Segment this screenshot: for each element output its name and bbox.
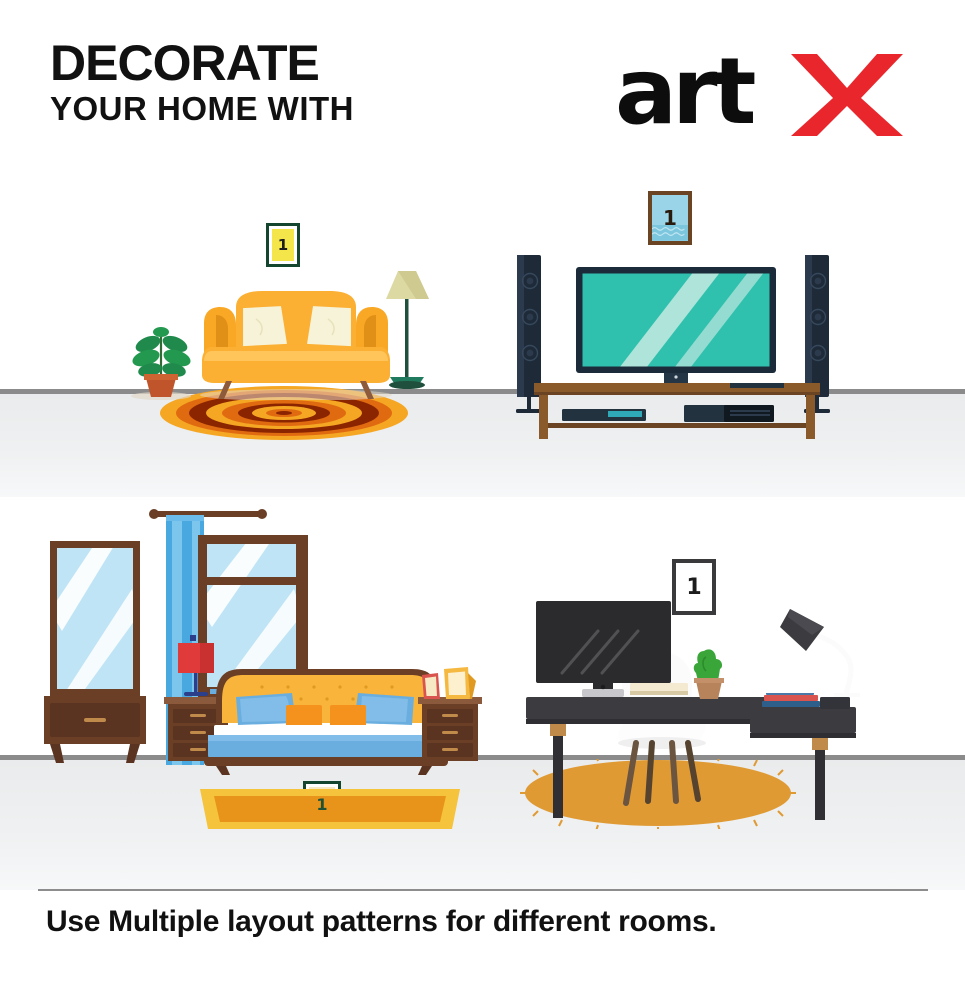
header: DECORATE YOUR HOME WITH art (0, 0, 965, 175)
logo-x-mark (787, 48, 907, 140)
scene-home-office[interactable]: 1 (482, 497, 965, 890)
art-canvas: 1 (272, 229, 294, 261)
desk-lamp (772, 605, 876, 701)
area-rug (190, 785, 470, 833)
television[interactable] (576, 267, 776, 391)
caption-divider (38, 889, 928, 891)
scene-bedroom[interactable]: 1 (0, 497, 482, 890)
nightstand-right (418, 697, 482, 765)
cactus-plant (686, 639, 730, 701)
photo-frames (420, 665, 480, 701)
art-canvas: 1 (652, 195, 688, 241)
book-blue (762, 701, 820, 707)
headline-line-2: YOUR HOME WITH (50, 88, 354, 129)
scene-living-room[interactable]: 1 (0, 175, 482, 497)
potted-plant (128, 300, 194, 400)
art-mat: 1 (269, 226, 297, 264)
caption-text: Use Multiple layout patterns for differe… (46, 905, 926, 939)
page-title: DECORATE YOUR HOME WITH (50, 38, 354, 129)
framed-art[interactable]: 1 (266, 223, 300, 267)
tv-stand (534, 383, 820, 443)
artx-logo: art (615, 42, 915, 142)
bed[interactable] (200, 665, 450, 775)
headline-line-1: DECORATE (50, 38, 354, 88)
mirror-wardrobe (40, 541, 150, 766)
side-table (750, 693, 856, 821)
framed-art[interactable]: 1 (672, 559, 716, 615)
sofa[interactable] (196, 285, 396, 400)
art-number: 1 (316, 795, 327, 814)
room-scenes: 1 (0, 175, 965, 890)
art-canvas: 1 (676, 563, 712, 611)
logo-wordmark: art (615, 42, 751, 142)
art-number: 1 (278, 236, 288, 254)
keyboard (630, 679, 688, 699)
scene-tv-room[interactable]: 1 (482, 175, 965, 497)
framed-art[interactable]: 1 (648, 191, 692, 245)
art-number: 1 (663, 206, 677, 230)
art-number: 1 (686, 575, 701, 600)
